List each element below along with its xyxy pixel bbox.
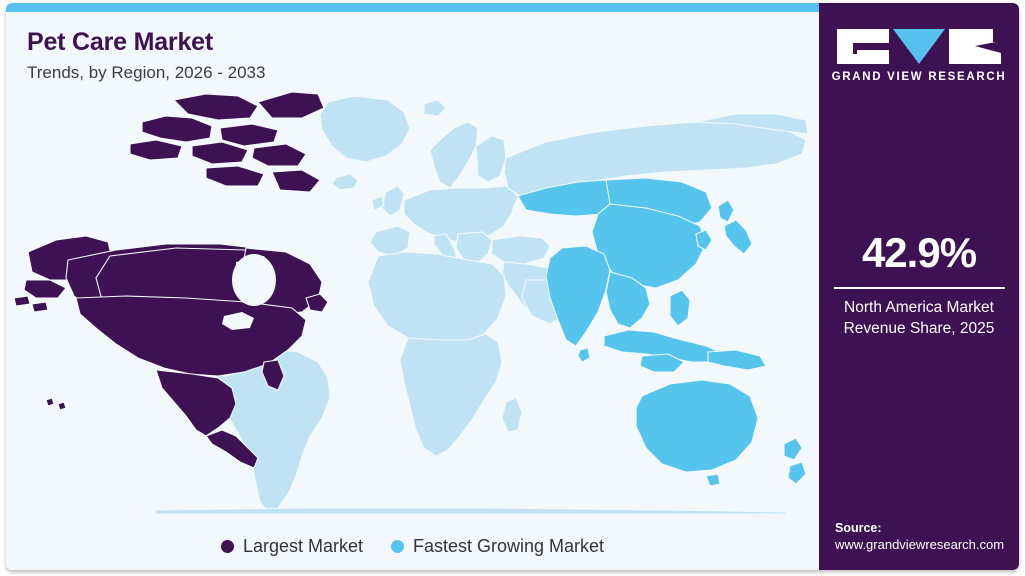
page-title: Pet Care Market (27, 28, 265, 57)
source-url[interactable]: www.grandviewresearch.com (835, 537, 1019, 552)
page-subtitle: Trends, by Region, 2026 - 2033 (27, 63, 265, 83)
stat-divider (834, 287, 1005, 289)
map-pane: Pet Care Market Trends, by Region, 2026 … (6, 12, 819, 570)
logo-marks (837, 29, 1001, 64)
world-map (6, 84, 819, 514)
legend-item-largest-market[interactable]: Largest Market (221, 536, 363, 557)
stat-caption-line2: Revenue Share, 2025 (819, 319, 1019, 340)
side-panel: GRAND VIEW RESEARCH 42.9% North America … (819, 3, 1019, 570)
heading-block: Pet Care Market Trends, by Region, 2026 … (27, 28, 265, 83)
logo-wordmark: GRAND VIEW RESEARCH (832, 71, 1007, 83)
logo-r-icon (949, 29, 1001, 64)
legend-item-fastest-growing-market[interactable]: Fastest Growing Market (391, 536, 604, 557)
source-block: Source: www.grandviewresearch.com (835, 521, 1019, 552)
legend-label: Largest Market (243, 536, 363, 557)
logo-g-icon (837, 29, 889, 64)
source-label: Source: (835, 521, 1019, 535)
legend-dot-icon (221, 540, 234, 553)
stat-caption: North America Market Revenue Share, 2025 (819, 298, 1019, 339)
legend: Largest Market Fastest Growing Market (6, 536, 819, 557)
infographic-card: Pet Care Market Trends, by Region, 2026 … (6, 3, 1019, 570)
logo-v-icon (893, 29, 945, 64)
top-accent-bar (6, 3, 819, 12)
stat-caption-line1: North America Market (819, 298, 1019, 319)
brand-logo[interactable]: GRAND VIEW RESEARCH (819, 29, 1019, 83)
legend-label: Fastest Growing Market (413, 536, 604, 557)
legend-dot-icon (391, 540, 404, 553)
stat-block: 42.9% North America Market Revenue Share… (819, 231, 1019, 339)
stat-value: 42.9% (819, 231, 1019, 275)
